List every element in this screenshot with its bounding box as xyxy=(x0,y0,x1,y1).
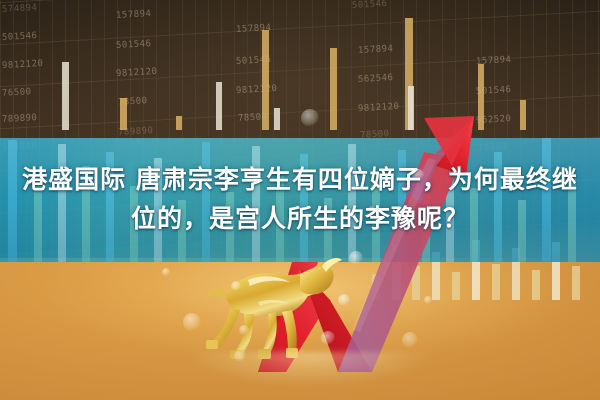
bokeh-dot xyxy=(231,281,241,291)
bokeh-dot xyxy=(321,331,335,345)
bokeh-dot xyxy=(349,251,363,265)
headline-overlay: 港盛国际 唐肃宗李亨生有四位嫡子，为何最终继 位的，是宫人所生的李豫呢？ xyxy=(0,160,600,238)
bokeh-dot xyxy=(183,313,201,331)
bokeh-dot xyxy=(424,296,432,304)
headline-line-2: 位的，是宫人所生的李豫呢？ xyxy=(8,199,592,238)
bokeh-dot xyxy=(402,332,418,348)
bokeh-dot xyxy=(239,325,249,335)
bokeh-dot xyxy=(338,294,350,306)
floor-reflection xyxy=(180,352,440,396)
promo-image: 5748945015469812120765007898905748101578… xyxy=(0,0,600,400)
headline-line-1: 港盛国际 唐肃宗李亨生有四位嫡子，为何最终继 xyxy=(8,160,592,199)
bokeh-dot xyxy=(301,109,319,127)
bokeh-dot xyxy=(162,268,170,276)
